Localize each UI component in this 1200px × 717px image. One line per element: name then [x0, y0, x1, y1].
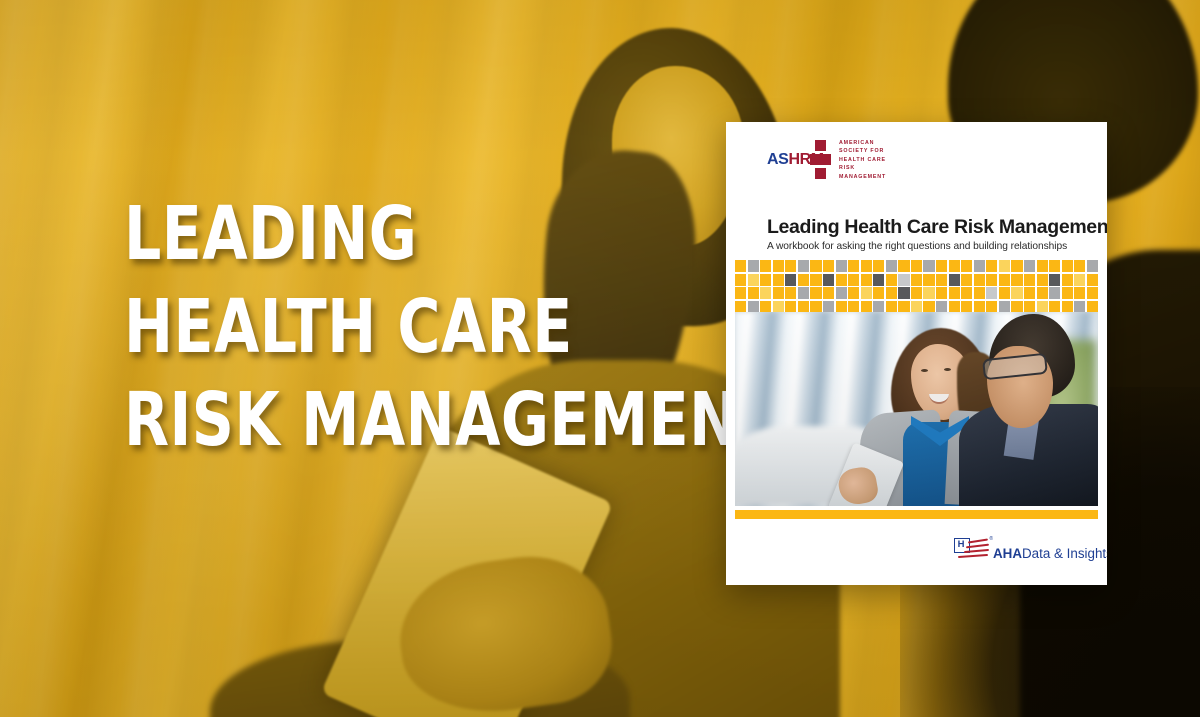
checker-cell [1011, 287, 1022, 299]
checker-cell [798, 287, 809, 299]
checker-cell [1062, 274, 1073, 286]
checker-cell [1037, 287, 1048, 299]
checker-cell [949, 274, 960, 286]
checker-cell [961, 260, 972, 272]
checker-cell [961, 274, 972, 286]
checker-cell [785, 274, 796, 286]
checker-cell [898, 287, 909, 299]
checker-cell [1011, 274, 1022, 286]
checker-cell [748, 260, 759, 272]
checker-cell [823, 287, 834, 299]
checker-cell [810, 287, 821, 299]
ashrm-acronym-as: AS [767, 151, 788, 168]
checker-cell [760, 260, 771, 272]
ashrm-tagline-line-2: SOCIETY FOR [839, 147, 886, 155]
checker-cell [923, 260, 934, 272]
ashrm-tagline-line-4: RISK [839, 164, 886, 172]
checker-cell [911, 260, 922, 272]
ashrm-tagline-line-5: MANAGEMENT [839, 173, 886, 181]
checker-cell [974, 274, 985, 286]
checker-cell [986, 274, 997, 286]
checker-cell [848, 260, 859, 272]
checker-cell [923, 287, 934, 299]
ashrm-tagline: AMERICAN SOCIETY FOR HEALTH CARE RISK MA… [839, 139, 886, 181]
aha-brand: AHA [993, 546, 1022, 561]
cover-photo-shade [735, 312, 1098, 506]
checker-cell [999, 274, 1010, 286]
checker-cell [1074, 274, 1085, 286]
checker-cell [961, 287, 972, 299]
checker-cell [974, 287, 985, 299]
checker-cell [936, 260, 947, 272]
checker-cell [836, 287, 847, 299]
cover-subtitle: A workbook for asking the right question… [767, 241, 1067, 252]
book-cover[interactable]: ASHRM AMERICAN SOCIETY FOR HEALTH CARE R… [726, 122, 1107, 585]
checker-cell [923, 274, 934, 286]
registered-trademark-icon: ® [989, 536, 993, 542]
checker-cell [999, 260, 1010, 272]
page-title: LEADING HEALTH CARE RISK MANAGEMENT [124, 188, 724, 467]
headline-line-2: HEALTH CARE [124, 281, 652, 374]
cover-photo [735, 312, 1098, 506]
checker-cell [861, 274, 872, 286]
checker-cell [1024, 260, 1035, 272]
medical-cross-icon [810, 140, 831, 180]
checker-cell [735, 287, 746, 299]
ashrm-tagline-line-1: AMERICAN [839, 139, 886, 147]
checker-cell [1024, 274, 1035, 286]
checker-cell [1024, 287, 1035, 299]
checker-cell [886, 260, 897, 272]
aha-h-letter: H [958, 540, 965, 549]
checker-cell [1062, 260, 1073, 272]
checker-cell [886, 274, 897, 286]
checker-cell [823, 260, 834, 272]
checker-cell [861, 260, 872, 272]
checker-cell [785, 287, 796, 299]
checker-cell [1011, 260, 1022, 272]
promo-banner: LEADING HEALTH CARE RISK MANAGEMENT ASHR… [0, 0, 1200, 717]
checker-cell [748, 287, 759, 299]
checker-cell [886, 287, 897, 299]
headline-line-3: RISK MANAGEMENT [124, 374, 652, 467]
ashrm-logo: ASHRM AMERICAN SOCIETY FOR HEALTH CARE R… [767, 139, 886, 181]
checker-cell [848, 287, 859, 299]
aha-logo-text: AHAData & Insights [993, 547, 1107, 562]
checker-cell [1074, 287, 1085, 299]
checker-cell [1037, 260, 1048, 272]
checker-cell [773, 260, 784, 272]
checker-cell [1049, 287, 1060, 299]
checker-cell [873, 260, 884, 272]
checker-cell [873, 287, 884, 299]
checkerboard-band [735, 260, 1098, 313]
checker-cell [1087, 260, 1098, 272]
aha-brand-suffix: Data & Insights [1022, 546, 1107, 561]
checker-cell [898, 260, 909, 272]
checker-cell [810, 274, 821, 286]
aha-logo: H ® AHAData & Insights [954, 537, 1107, 562]
headline-line-1: LEADING [124, 188, 652, 281]
checker-cell [1037, 274, 1048, 286]
checker-cell [999, 287, 1010, 299]
checker-cell [748, 274, 759, 286]
checker-cell [1087, 287, 1098, 299]
checker-cell [810, 260, 821, 272]
ashrm-logo-mark: ASHRM [767, 140, 825, 180]
checker-cell [974, 260, 985, 272]
checker-cell [861, 287, 872, 299]
checker-cell [986, 287, 997, 299]
cover-title: Leading Health Care Risk Management [767, 216, 1107, 239]
checker-cell [873, 274, 884, 286]
checker-cell [986, 260, 997, 272]
checker-cell [773, 287, 784, 299]
checker-cell [949, 260, 960, 272]
aha-flag-stripe-4 [958, 554, 988, 558]
checker-cell [1062, 287, 1073, 299]
checker-cell [848, 274, 859, 286]
checker-cell [1087, 274, 1098, 286]
checker-cell [735, 260, 746, 272]
checker-cell [911, 287, 922, 299]
checker-cell [823, 274, 834, 286]
checker-cell [836, 274, 847, 286]
checker-cell [798, 274, 809, 286]
checker-cell [760, 287, 771, 299]
checker-cell [936, 287, 947, 299]
checker-cell [898, 274, 909, 286]
checker-cell [1049, 260, 1060, 272]
checker-cell [911, 274, 922, 286]
checker-cell [785, 260, 796, 272]
checker-cell [735, 274, 746, 286]
aha-flag-stripe-1 [968, 538, 988, 543]
ashrm-tagline-line-3: HEALTH CARE [839, 156, 886, 164]
checker-cell [1074, 260, 1085, 272]
checker-cell [798, 260, 809, 272]
checker-cell [936, 274, 947, 286]
checker-cell [1049, 274, 1060, 286]
checker-cell [760, 274, 771, 286]
aha-logo-mark: H ® [954, 537, 992, 562]
checker-cell [949, 287, 960, 299]
cover-accent-band [735, 510, 1098, 519]
checker-cell [773, 274, 784, 286]
checker-cell [836, 260, 847, 272]
